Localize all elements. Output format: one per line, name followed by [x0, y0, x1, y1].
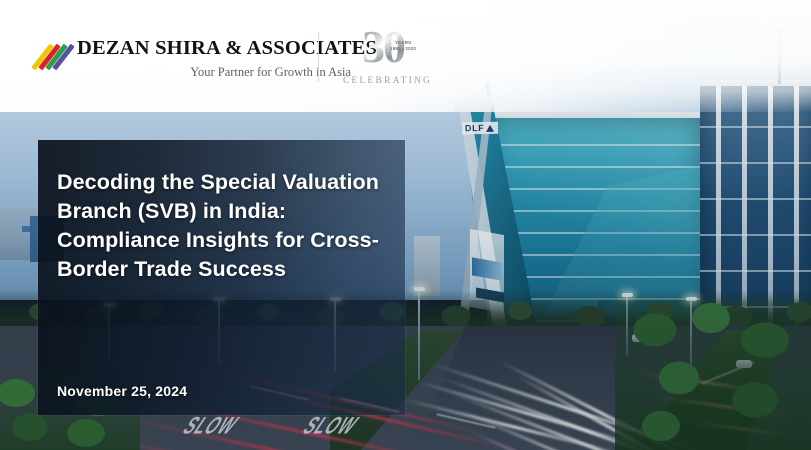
dlf-building-logo: DLF: [462, 122, 499, 135]
anniversary-badge: 30 YEARS 1992 - 2022 CELEBRATING: [343, 24, 423, 86]
article-date: November 25, 2024: [57, 383, 187, 399]
brand-name: DEZAN SHIRA & ASSOCIATES: [77, 38, 377, 59]
title-overlay-panel: Decoding the Special Valuation Branch (S…: [38, 140, 405, 415]
anniversary-years: YEARS 1992 - 2022: [390, 40, 416, 51]
anniversary-years-range: 1992 - 2022: [390, 46, 416, 52]
brand-lockup[interactable]: DEZAN SHIRA & ASSOCIATES Your Partner fo…: [38, 38, 377, 80]
dezan-shira-stripes-icon: [38, 42, 68, 74]
anniversary-caption: CELEBRATING: [343, 76, 423, 86]
roadside-shrubs-right: [615, 300, 811, 450]
article-hero-banner: DLF: [0, 0, 811, 450]
header-divider: [318, 32, 319, 82]
street-lamp: [418, 290, 420, 380]
article-title: Decoding the Special Valuation Branch (S…: [57, 168, 387, 284]
